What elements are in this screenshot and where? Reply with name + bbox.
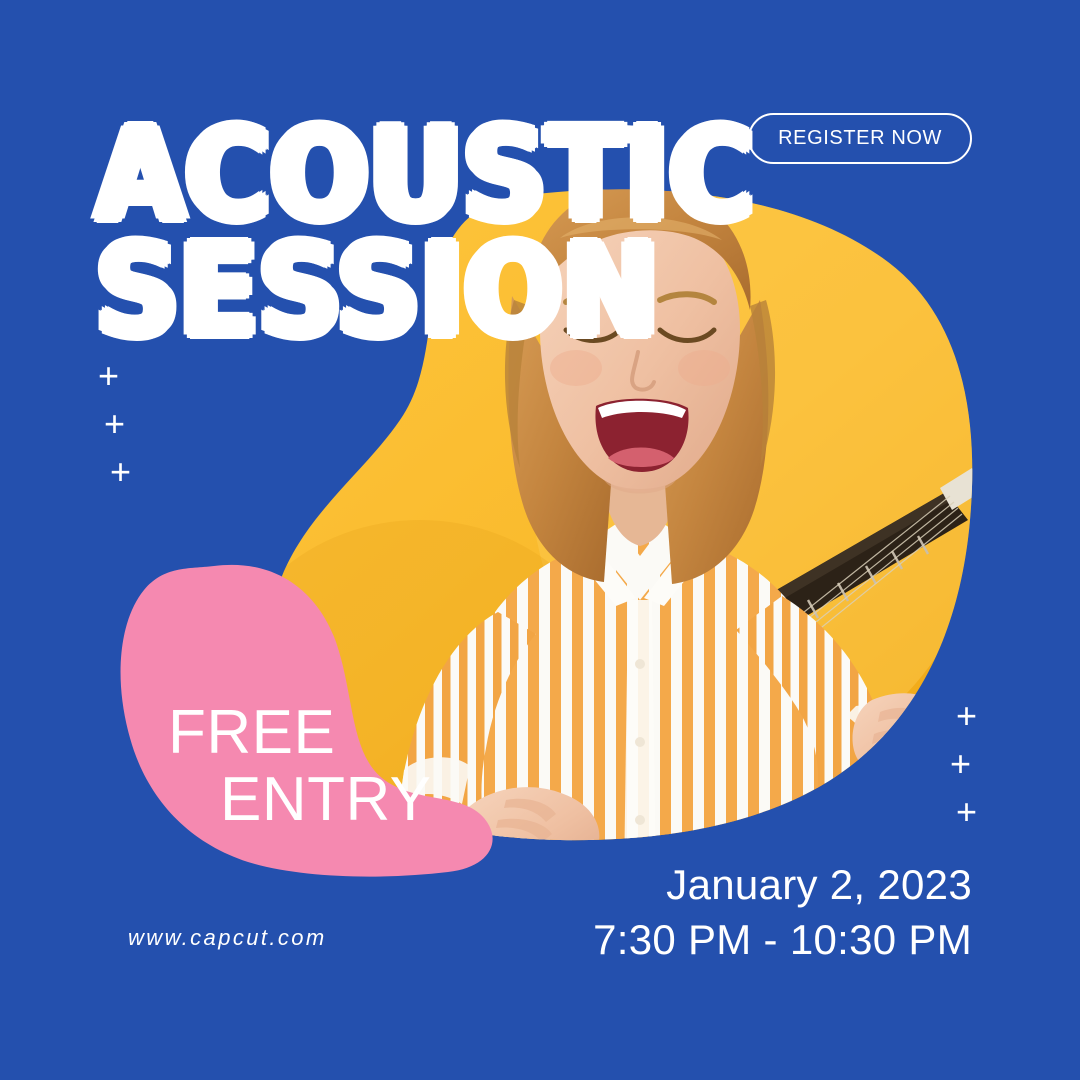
plus-icon: + xyxy=(104,406,125,442)
plus-icon: + xyxy=(956,698,977,734)
plus-icon: + xyxy=(956,794,977,830)
event-time: 7:30 PM - 10:30 PM xyxy=(593,913,972,968)
plus-icon: + xyxy=(110,454,131,490)
poster-canvas: ACOUSTIC SESSION REGISTER NOW + + + + + … xyxy=(0,0,1080,1080)
free-entry-badge: FREE ENTRY xyxy=(168,700,432,834)
free-entry-line-2: ENTRY xyxy=(220,767,432,834)
page-title: ACOUSTIC SESSION xyxy=(96,117,717,332)
free-entry-line-1: FREE xyxy=(168,698,335,767)
event-details: January 2, 2023 7:30 PM - 10:30 PM xyxy=(593,858,972,967)
plus-icon: + xyxy=(950,746,971,782)
event-date: January 2, 2023 xyxy=(593,858,972,913)
title-line-2: SESSION xyxy=(96,233,755,350)
register-now-button[interactable]: REGISTER NOW xyxy=(748,113,972,164)
website-url[interactable]: www.capcut.com xyxy=(128,925,327,951)
